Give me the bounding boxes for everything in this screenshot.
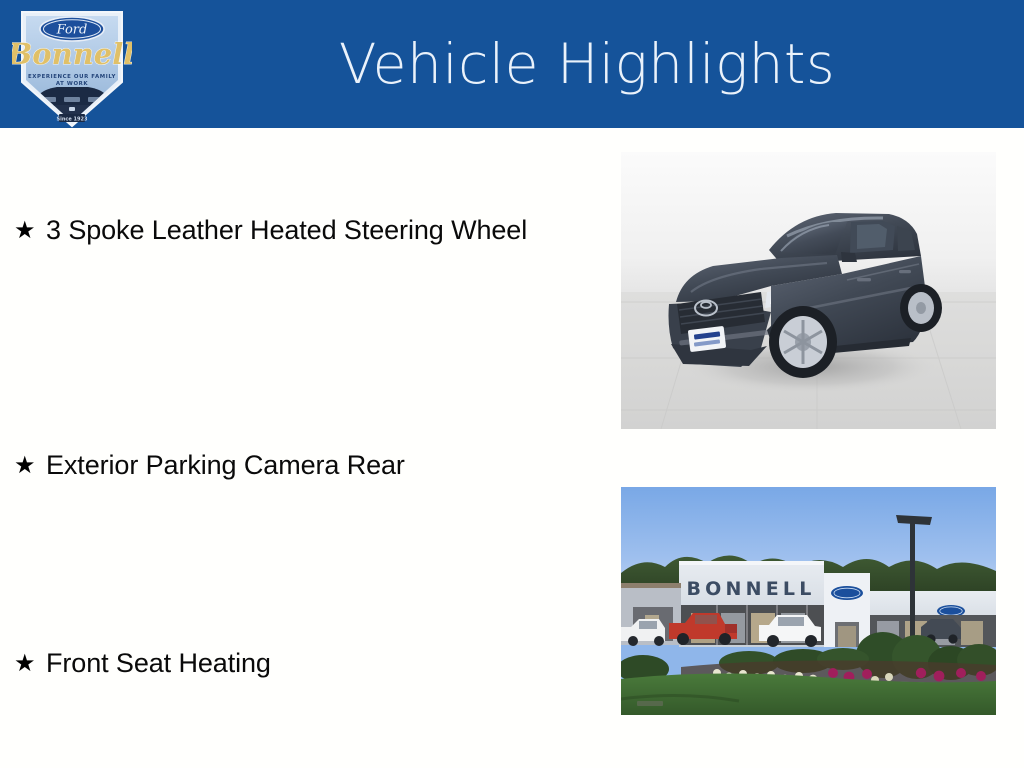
- svg-text:Bonnell: Bonnell: [12, 37, 132, 71]
- star-bullet-icon: ★: [14, 645, 46, 681]
- page-title: Vehicle Highlights: [150, 0, 1024, 128]
- dealership-photo: BONNELL: [621, 487, 996, 715]
- dealership-photo-svg: BONNELL: [621, 487, 996, 715]
- dealership-sign-text: BONNELL: [686, 578, 815, 600]
- svg-text:Ford: Ford: [56, 23, 88, 38]
- bonnell-ford-logo: Ford Bonnell EXPERIENCE OUR FAMILY AT WO…: [12, 2, 132, 128]
- vehicle-photo: [621, 152, 996, 429]
- highlight-label: Exterior Parking Camera Rear: [46, 447, 554, 483]
- vehicle-photo-svg: [621, 152, 996, 429]
- logo-svg: Ford Bonnell EXPERIENCE OUR FAMILY AT WO…: [12, 2, 132, 128]
- svg-text:Since 1923: Since 1923: [57, 116, 88, 122]
- list-item: ★ 3 Spoke Leather Heated Steering Wheel: [14, 212, 554, 248]
- star-bullet-icon: ★: [14, 447, 46, 483]
- ground-marker: [637, 701, 663, 706]
- highlight-label: 3 Spoke Leather Heated Steering Wheel: [46, 212, 554, 248]
- list-item: ★ Exterior Parking Camera Rear: [14, 447, 554, 483]
- since-plaque: Since 1923: [57, 114, 88, 122]
- front-wheel: [769, 306, 837, 378]
- list-item: ★ Front Seat Heating: [14, 645, 554, 681]
- svg-text:EXPERIENCE OUR FAMILY: EXPERIENCE OUR FAMILY: [28, 74, 116, 80]
- svg-text:AT WORK: AT WORK: [56, 81, 89, 87]
- highlights-list: ★ 3 Spoke Leather Heated Steering Wheel …: [0, 150, 600, 750]
- rear-wheel: [900, 284, 942, 332]
- star-bullet-icon: ★: [14, 212, 46, 248]
- highlight-label: Front Seat Heating: [46, 645, 554, 681]
